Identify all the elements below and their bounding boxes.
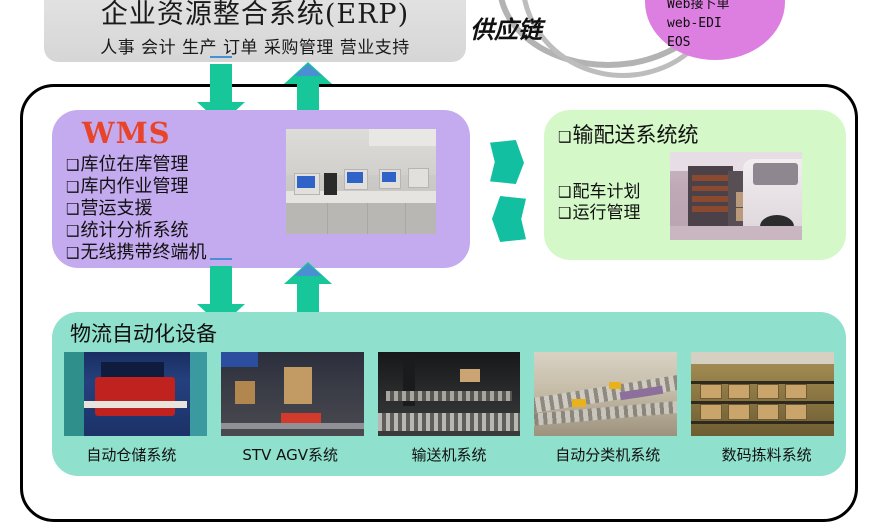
photo-floor-tile [366,203,368,235]
photo-dock-row [692,206,731,212]
delivery-truck-at-dock-photo [670,152,802,240]
photo-conveyor [378,413,521,431]
checkbox-icon: ❑ [558,183,571,201]
transport-item-label: 配车计划 [572,182,640,202]
photo-shelf [691,421,834,424]
stv-agv-transport-photo [221,352,364,436]
arrow-shaft [210,266,232,306]
photo-screen [382,172,396,182]
photo-truck-window [753,163,798,186]
photo-floor-tile [404,203,406,235]
arrow-stripe [210,56,232,58]
automation-item-label: STV AGV系统 [211,444,370,468]
photo-conveyor [386,391,512,401]
web-channel-line-3: EOS [667,34,729,53]
checkbox-icon: ❑ [66,200,79,218]
automation-item-label: 输送机系统 [370,444,529,468]
computer-workstation-room-photo [286,129,436,234]
arrow-shaft [210,64,232,104]
automated-storage-crane-photo [64,352,207,436]
roller-conveyor-photo [378,352,521,436]
digital-picking-shelves-photo [691,352,834,436]
photo-bin [757,384,779,399]
checkbox-icon: ❑ [66,222,79,240]
wms-list-item[interactable]: ❑库位在库管理 [66,154,206,176]
wms-item-label: 统计分析系统 [80,220,188,241]
wms-item-label: 营运支援 [80,198,152,219]
transport-title: ❑输配送系统统 [558,119,698,149]
transport-title-label: 输配送系统统 [572,123,698,147]
checkbox-icon: ❑ [66,178,79,196]
checkbox-icon: ❑ [66,244,79,262]
supply-chain-label: 供应链 [470,10,542,45]
photo-floor-tile [326,203,328,235]
erp-title: 企业资源整合系统(ERP) [101,1,409,29]
automation-item-label: 自动分类机系统 [528,444,687,468]
wms-list-item[interactable]: ❑库内作业管理 [66,176,206,198]
photo-screen [347,172,363,183]
photo-dock-row [692,175,731,181]
wms-item-label: 库位在库管理 [80,154,188,175]
wms-item-label: 无线携带终端机 [80,242,206,263]
arrow-left [492,196,526,242]
transport-feature-list: ❑配车计划 ❑运行管理 [558,182,640,225]
arrow-stripe [210,258,232,260]
automation-item-label: 自动仓储系统 [52,444,211,468]
photo-bin [785,404,807,419]
automation-label-row: 自动仓储系统 STV AGV系统 输送机系统 自动分类机系统 数码拣料系统 [52,444,846,468]
photo-ceiling [369,129,437,146]
transport-item-label: 运行管理 [572,203,640,223]
arrow-tip [294,64,322,76]
arrow-right [490,140,524,184]
photo-blue-panel [221,352,258,367]
wms-list-item[interactable]: ❑无线携带终端机 [66,242,206,264]
photo-carton [284,367,313,404]
photo-bin [757,404,779,419]
photo-tower [324,173,337,195]
photo-bin [728,404,750,419]
photo-bin [700,384,722,399]
photo-track [221,423,364,429]
photo-rail [190,352,207,436]
wms-title: WMS [82,116,171,150]
arrow-wms-transport-bidirectional [490,140,536,250]
diagram-canvas: 企业资源整合系统(ERP) 人事 会计 生产 订单 采购管理 营业支持 供应链 … [0,0,870,504]
erp-subtitle: 人事 会计 生产 订单 采购管理 营业支持 [100,33,410,58]
transport-panel[interactable]: ❑输配送系统统 ❑配车计划 ❑运行管理 [544,110,846,260]
wms-list-item[interactable]: ❑营运支援 [66,198,206,220]
automation-title: 物流自动化设备 [70,318,217,348]
web-channels-text: Web接卜单 web-EDI EOS [667,0,729,53]
wms-list-item[interactable]: ❑统计分析系统 [66,220,206,242]
automation-panel[interactable]: 物流自动化设备 [52,312,846,476]
photo-rail [64,352,84,436]
checkbox-icon: ❑ [66,156,79,174]
photo-carton [460,369,480,382]
photo-crane [95,377,175,416]
automatic-sorter-photo [534,352,677,436]
photo-dock-row [692,186,731,192]
wms-item-label: 库内作业管理 [80,176,188,197]
erp-header-panel[interactable]: 企业资源整合系统(ERP) 人事 会计 生产 订单 采购管理 营业支持 [44,0,466,62]
photo-parcel [609,382,622,389]
photo-bin [700,404,722,419]
checkbox-icon: ❑ [558,128,571,146]
photo-monitor [408,168,429,188]
checkbox-icon: ❑ [558,204,571,222]
photo-ground [670,226,802,240]
transport-list-item[interactable]: ❑运行管理 [558,203,640,224]
photo-ceiling [691,352,834,364]
photo-screen [297,176,315,188]
photo-arm [81,401,187,409]
web-channel-line-1: Web接卜单 [667,0,729,15]
photo-carton [235,381,255,405]
wms-feature-list: ❑库位在库管理 ❑库内作业管理 ❑营运支援 ❑统计分析系统 ❑无线携带终端机 [66,154,206,264]
arrow-tip [294,264,322,276]
transport-list-item[interactable]: ❑配车计划 [558,182,640,203]
photo-bin [785,384,807,399]
photo-dock [688,166,733,231]
photo-parcel [572,399,586,407]
photo-bin [728,384,750,399]
web-channel-line-2: web-EDI [667,15,729,34]
automation-photo-row [64,352,834,436]
automation-item-label: 数码拣料系统 [687,444,846,468]
photo-dock-row [692,196,731,202]
photo-floor [286,203,436,235]
